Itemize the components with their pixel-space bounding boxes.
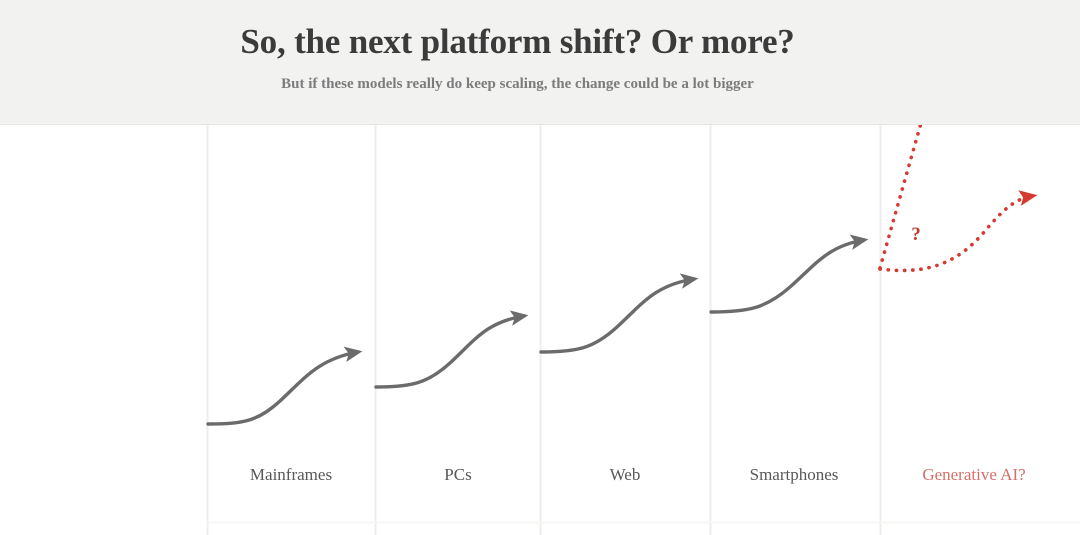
red-arrow-plateau-scenario: [880, 196, 1032, 270]
s-curve-pcs: [376, 316, 524, 387]
s-curve-smartphones: [711, 240, 864, 312]
red-arrow-steep-scenario: [880, 125, 951, 268]
page-title: So, the next platform shift? Or more?: [0, 22, 1035, 62]
s-curve-web: [541, 279, 694, 352]
slide-canvas: So, the next platform shift? Or more? Bu…: [0, 0, 1080, 535]
chart-area: ? Mainframes PCs Web Smartphones Generat…: [0, 125, 1080, 535]
slide-header-band: So, the next platform shift? Or more? Bu…: [0, 0, 1080, 125]
category-label-generative-ai: Generative AI?: [874, 465, 1074, 485]
question-mark-annotation: ?: [911, 224, 921, 245]
s-curve-mainframes: [208, 352, 358, 424]
page-subtitle: But if these models really do keep scali…: [0, 76, 1035, 93]
category-label-smartphones: Smartphones: [694, 465, 894, 485]
